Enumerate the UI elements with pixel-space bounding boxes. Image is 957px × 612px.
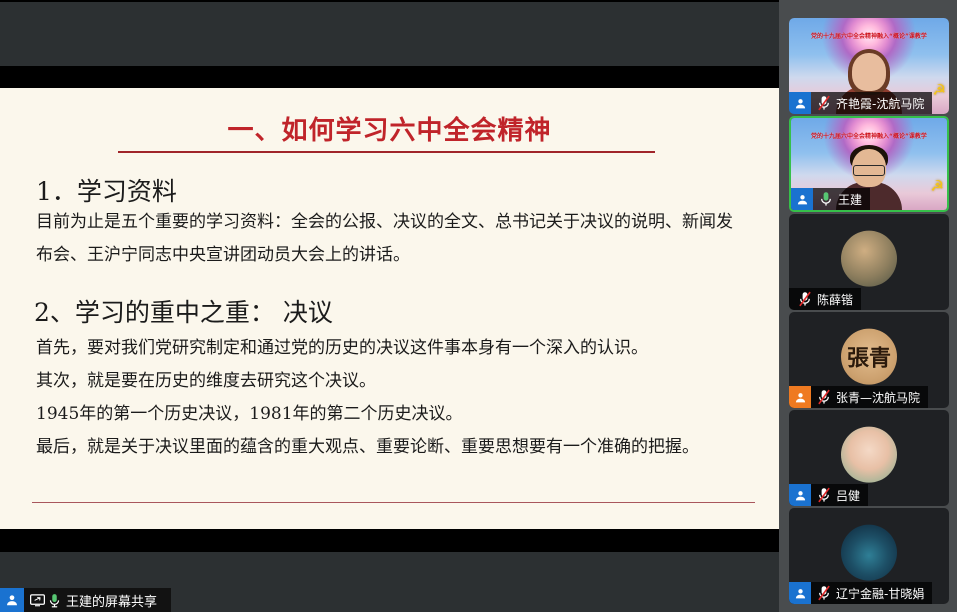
participant-name: 陈薛锴 — [817, 291, 853, 308]
slide-paragraph-1-1: 目前为止是五个重要的学习资料：全会的公报、决议的全文、总书记关于决议的说明、新闻… — [36, 206, 748, 272]
shared-screen-stage[interactable]: 一、如何学习六中全会精神 1．学习资料 目前为止是五个重要的学习资料：全会的公报… — [0, 0, 779, 612]
participant-tile-5[interactable]: 吕健 — [789, 410, 949, 506]
virtual-background-text: 党的十九届六中全会精神融入“概论”课教学 — [793, 32, 945, 42]
zoom-meeting-window: 一、如何学习六中全会精神 1．学习资料 目前为止是五个重要的学习资料：全会的公报… — [0, 0, 957, 612]
participant-name: 吕健 — [836, 487, 860, 504]
participant-nameplate-4: 张青—沈航马院 — [789, 386, 928, 408]
participant-avatar-photo — [841, 231, 897, 287]
microphone-muted-icon — [814, 386, 833, 408]
participant-tile-1[interactable]: 党的十九届六中全会精神融入“概论”课教学 ☭ — [789, 18, 949, 114]
participant-nameplate-1: 齐艳霞-沈航马院 — [789, 92, 932, 114]
shared-content-letterbox-top — [0, 2, 779, 66]
slide-title-underline — [118, 151, 655, 153]
slide-bottom-divider — [32, 502, 755, 503]
participant-name: 张青—沈航马院 — [836, 389, 920, 406]
share-status-label: 王建的屏幕共享 — [66, 591, 161, 610]
participant-avatar-icon — [789, 386, 811, 408]
participant-name: 王建 — [838, 191, 862, 208]
participant-avatar-icon — [789, 582, 811, 604]
participant-avatar-photo — [841, 427, 897, 483]
participant-avatar-icon — [791, 188, 813, 210]
slide-paragraph-2-2: 其次，就是要在历史的维度去研究这个决议。 — [36, 365, 376, 398]
participant-avatar-photo — [841, 525, 897, 581]
participant-tile-4[interactable]: 張青 张青—沈航马院 — [789, 312, 949, 408]
participant-avatar-icon — [789, 484, 811, 506]
party-emblem-icon: ☭ — [933, 83, 946, 98]
microphone-muted-icon — [814, 484, 833, 506]
participant-nameplate-2: 王建 — [791, 188, 870, 210]
participant-name: 齐艳霞-沈航马院 — [836, 95, 924, 112]
slide-heading-2: 2、学习的重中之重： 决议 — [34, 293, 333, 329]
slide-paragraph-2-1: 首先，要对我们党研究制定和通过党的历史的决议这件事本身有一个深入的认识。 — [36, 332, 648, 365]
microphone-muted-icon — [795, 288, 814, 310]
virtual-background-text: 党的十九届六中全会精神融入“概论”课教学 — [795, 132, 943, 142]
participant-tile-2[interactable]: 党的十九届六中全会精神融入“概论”课教学 ☭ — [789, 116, 949, 212]
participant-nameplate-6: 辽宁金融-甘晓娟 — [789, 582, 932, 604]
participant-filmstrip[interactable]: 党的十九届六中全会精神融入“概论”课教学 ☭ — [779, 0, 957, 612]
microphone-muted-icon — [814, 92, 833, 114]
microphone-muted-icon — [814, 582, 833, 604]
slide-paragraph-2-3: 1945年的第一个历史决议，1981年的第二个历史决议。 — [36, 398, 463, 431]
participant-tile-3[interactable]: 陈薛锴 — [789, 214, 949, 310]
microphone-icon — [816, 188, 835, 210]
participant-name: 辽宁金融-甘晓娟 — [836, 585, 924, 602]
participant-nameplate-5: 吕健 — [789, 484, 868, 506]
microphone-icon — [48, 593, 61, 608]
participant-avatar-icon — [0, 588, 24, 612]
presentation-slide: 一、如何学习六中全会精神 1．学习资料 目前为止是五个重要的学习资料：全会的公报… — [0, 88, 779, 529]
slide-title: 一、如何学习六中全会精神 — [0, 110, 779, 147]
slide-heading-1: 1．学习资料 — [36, 172, 177, 208]
slide-paragraph-2-4: 最后，就是关于决议里面的蕴含的重大观点、重要论断、重要思想要有一个准确的把握。 — [36, 431, 748, 464]
share-status-icon-group — [24, 593, 66, 608]
screen-share-status-bar: 王建的屏幕共享 — [0, 588, 171, 612]
participant-avatar-icon — [789, 92, 811, 114]
participant-avatar-photo: 張青 — [841, 329, 897, 385]
party-emblem-icon: ☭ — [931, 179, 944, 194]
screen-share-icon — [30, 594, 45, 607]
participant-nameplate-3: 陈薛锴 — [789, 288, 861, 310]
participant-tile-6[interactable]: 辽宁金融-甘晓娟 — [789, 508, 949, 604]
